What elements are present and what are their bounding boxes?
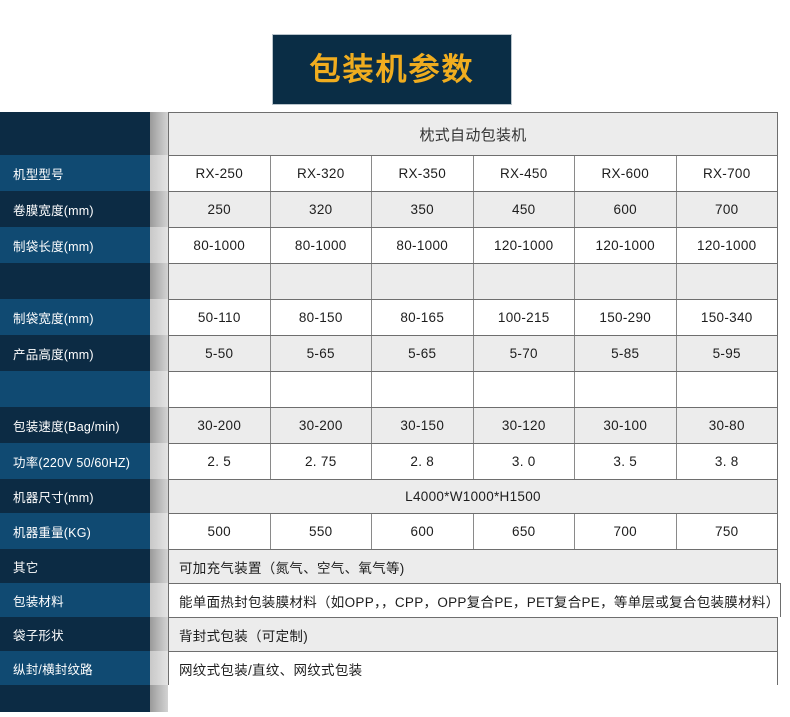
table-cell: 50-110 (169, 300, 270, 335)
table-row: 功率(220V 50/60HZ)2. 52. 752. 83. 03. 53. … (0, 443, 790, 479)
table-cell: 700 (676, 192, 778, 227)
table-cell: 2. 75 (270, 444, 372, 479)
table-cell (371, 372, 473, 407)
table-cell (169, 264, 270, 299)
column-separator (150, 227, 168, 263)
table-row: 卷膜宽度(mm)250320350450600700 (0, 191, 790, 227)
table-cell: 5-65 (270, 336, 372, 371)
table-cell: 30-150 (371, 408, 473, 443)
row-values: 能单面热封包装膜材料（如OPP，，CPP，OPP复合PE，PET复合PE，等单层… (168, 583, 781, 617)
table-cell (574, 372, 676, 407)
table-cell: RX-320 (270, 156, 372, 191)
table-cell: 600 (371, 514, 473, 549)
table-cell: 320 (270, 192, 372, 227)
table-cell: 250 (169, 192, 270, 227)
table-row: 枕式自动包装机 (0, 112, 790, 155)
table-cell: 80-1000 (371, 228, 473, 263)
column-separator (150, 112, 168, 155)
table-row (0, 371, 790, 407)
row-label: 其它 (0, 549, 150, 583)
specification-table: 枕式自动包装机机型型号RX-250RX-320RX-350RX-450RX-60… (0, 112, 790, 692)
table-cell: 30-80 (676, 408, 778, 443)
column-separator (150, 651, 168, 685)
row-label: 制袋长度(mm) (0, 227, 150, 263)
row-values: 250320350450600700 (168, 191, 778, 227)
table-bottom-padding (168, 685, 790, 712)
table-cell: 80-165 (371, 300, 473, 335)
table-cell (473, 264, 575, 299)
table-cell (270, 264, 372, 299)
column-separator (150, 155, 168, 191)
table-row: 产品高度(mm)5-505-655-655-705-855-95 (0, 335, 790, 371)
row-label: 袋子形状 (0, 617, 150, 651)
row-label-empty (0, 112, 150, 155)
row-label: 制袋宽度(mm) (0, 299, 150, 335)
column-separator (150, 299, 168, 335)
table-cell: 150-290 (574, 300, 676, 335)
table-row (0, 263, 790, 299)
table-cell: 3. 5 (574, 444, 676, 479)
column-separator (150, 685, 168, 712)
table-cell: 350 (371, 192, 473, 227)
page-title-banner: 包装机参数 (272, 34, 512, 105)
row-values: 可加充气装置（氮气、空气、氧气等) (168, 549, 778, 583)
row-label: 机器尺寸(mm) (0, 479, 150, 513)
table-cell: RX-600 (574, 156, 676, 191)
table-row: 袋子形状背封式包装（可定制) (0, 617, 790, 651)
row-values: 背封式包装（可定制) (168, 617, 778, 651)
table-cell: 2. 5 (169, 444, 270, 479)
table-header-title: 枕式自动包装机 (169, 113, 777, 155)
table-cell: 3. 0 (473, 444, 575, 479)
table-cell: RX-350 (371, 156, 473, 191)
row-values: 网纹式包装/直纹、网纹式包装 (168, 651, 778, 685)
row-label-empty (0, 263, 150, 299)
table-cell: 500 (169, 514, 270, 549)
table-cell: RX-450 (473, 156, 575, 191)
table-cell: 80-1000 (270, 228, 372, 263)
table-cell (676, 264, 778, 299)
row-merged-value: 能单面热封包装膜材料（如OPP，，CPP，OPP复合PE，PET复合PE，等单层… (169, 584, 780, 617)
column-separator (150, 479, 168, 513)
column-separator (150, 513, 168, 549)
table-cell: 700 (574, 514, 676, 549)
row-values (168, 263, 778, 299)
table-row: 机器重量(KG)500550600650700750 (0, 513, 790, 549)
table-cell (676, 372, 778, 407)
table-cell (270, 372, 372, 407)
column-separator (150, 335, 168, 371)
row-values: L4000*W1000*H1500 (168, 479, 778, 513)
row-values: 30-20030-20030-15030-12030-10030-80 (168, 407, 778, 443)
table-cell (473, 372, 575, 407)
column-separator (150, 371, 168, 407)
row-values: RX-250RX-320RX-350RX-450RX-600RX-700 (168, 155, 778, 191)
column-separator (150, 443, 168, 479)
column-separator (150, 617, 168, 651)
column-separator (150, 549, 168, 583)
row-values: 枕式自动包装机 (168, 112, 778, 155)
table-cell: 150-340 (676, 300, 778, 335)
row-merged-value: 背封式包装（可定制) (169, 618, 777, 651)
row-label: 产品高度(mm) (0, 335, 150, 371)
row-label: 卷膜宽度(mm) (0, 191, 150, 227)
table-cell: 120-1000 (473, 228, 575, 263)
table-cell: RX-250 (169, 156, 270, 191)
table-cell: 30-200 (270, 408, 372, 443)
table-row (0, 685, 790, 712)
row-values (168, 371, 778, 407)
table-cell: 650 (473, 514, 575, 549)
table-cell: 450 (473, 192, 575, 227)
page-title: 包装机参数 (310, 54, 475, 85)
table-row: 包装材料能单面热封包装膜材料（如OPP，，CPP，OPP复合PE，PET复合PE… (0, 583, 790, 617)
column-separator (150, 583, 168, 617)
row-values: 2. 52. 752. 83. 03. 53. 8 (168, 443, 778, 479)
row-label-empty (0, 371, 150, 407)
row-values: 50-11080-15080-165100-215150-290150-340 (168, 299, 778, 335)
table-row: 纵封/横封纹路网纹式包装/直纹、网纹式包装 (0, 651, 790, 685)
table-cell: 80-150 (270, 300, 372, 335)
table-cell: 600 (574, 192, 676, 227)
table-cell: 3. 8 (676, 444, 778, 479)
table-cell: 100-215 (473, 300, 575, 335)
row-merged-value: L4000*W1000*H1500 (169, 480, 777, 513)
row-label: 纵封/横封纹路 (0, 651, 150, 685)
table-row: 机型型号RX-250RX-320RX-350RX-450RX-600RX-700 (0, 155, 790, 191)
row-values: 5-505-655-655-705-855-95 (168, 335, 778, 371)
table-cell: 30-100 (574, 408, 676, 443)
row-label: 机型型号 (0, 155, 150, 191)
row-label: 包装材料 (0, 583, 150, 617)
table-cell: 80-1000 (169, 228, 270, 263)
row-label: 机器重量(KG) (0, 513, 150, 549)
row-merged-value: 网纹式包装/直纹、网纹式包装 (169, 652, 777, 685)
table-cell: 120-1000 (676, 228, 778, 263)
row-merged-value: 可加充气装置（氮气、空气、氧气等) (169, 550, 777, 583)
table-cell: 30-120 (473, 408, 575, 443)
column-separator (150, 407, 168, 443)
table-row: 其它可加充气装置（氮气、空气、氧气等) (0, 549, 790, 583)
table-cell: 5-85 (574, 336, 676, 371)
row-values: 500550600650700750 (168, 513, 778, 549)
table-cell (169, 372, 270, 407)
table-cell: 550 (270, 514, 372, 549)
table-cell: RX-700 (676, 156, 778, 191)
table-cell: 750 (676, 514, 778, 549)
table-cell (574, 264, 676, 299)
table-cell (371, 264, 473, 299)
row-label: 包装速度(Bag/min) (0, 407, 150, 443)
table-row: 包装速度(Bag/min)30-20030-20030-15030-12030-… (0, 407, 790, 443)
table-cell: 5-50 (169, 336, 270, 371)
row-values: 80-100080-100080-1000120-1000120-1000120… (168, 227, 778, 263)
column-separator (150, 191, 168, 227)
table-row: 机器尺寸(mm)L4000*W1000*H1500 (0, 479, 790, 513)
table-cell: 5-65 (371, 336, 473, 371)
row-label-empty (0, 685, 150, 712)
table-cell: 5-95 (676, 336, 778, 371)
table-row: 制袋长度(mm)80-100080-100080-1000120-1000120… (0, 227, 790, 263)
table-cell: 2. 8 (371, 444, 473, 479)
table-cell: 120-1000 (574, 228, 676, 263)
column-separator (150, 263, 168, 299)
row-label: 功率(220V 50/60HZ) (0, 443, 150, 479)
table-cell: 30-200 (169, 408, 270, 443)
table-row: 制袋宽度(mm)50-11080-15080-165100-215150-290… (0, 299, 790, 335)
table-cell: 5-70 (473, 336, 575, 371)
